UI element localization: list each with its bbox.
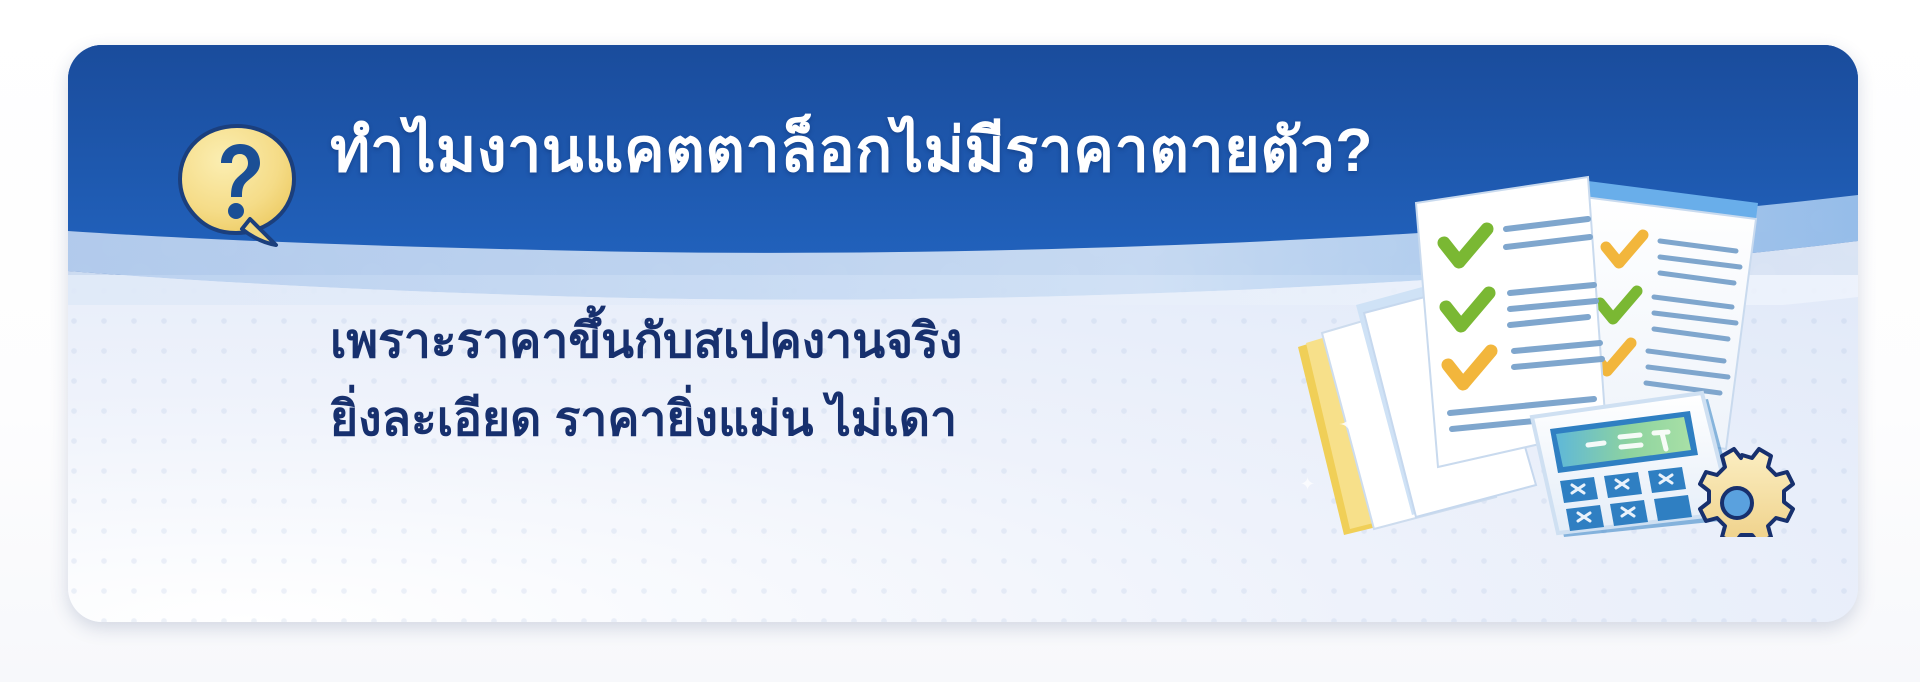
banner-message: เพราะราคาขึ้นกับสเปคงานจริง ยิ่งละเอียด … <box>330 303 962 459</box>
message-line-1: เพราะราคาขึ้นกับสเปคงานจริง <box>330 303 962 381</box>
sparkle-large-icon: ✦ <box>1338 411 1363 441</box>
sparkle-small-icon: ✦ <box>1300 475 1315 493</box>
message-line-2: ยิ่งละเอียด ราคายิ่งแม่น ไม่เดา <box>330 381 962 459</box>
documents-checklist-calculator-illustration <box>1288 137 1848 537</box>
banner-stage: ทำไมงานแคตตาล็อกไม่มีราคาตายตัว? เพราะรา… <box>0 0 1920 682</box>
question-mark-icon <box>176 123 304 251</box>
promo-card: ทำไมงานแคตตาล็อกไม่มีราคาตายตัว? เพราะรา… <box>68 45 1858 622</box>
page-title: ทำไมงานแคตตาล็อกไม่มีราคาตายตัว? <box>330 117 1373 184</box>
